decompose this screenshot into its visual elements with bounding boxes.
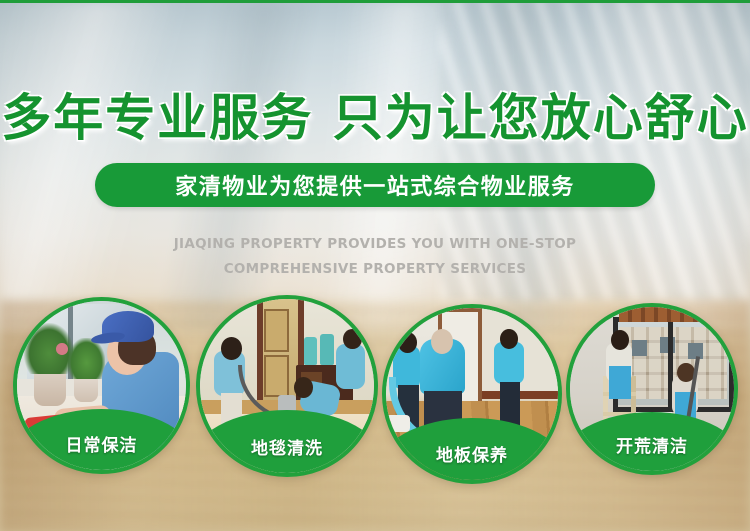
service-label-daily-cleaning: 日常保洁: [17, 431, 186, 456]
service-circle-floor-maintenance[interactable]: 地板保养: [382, 304, 562, 484]
service-label-carpet-washing: 地毯清洗: [200, 434, 374, 459]
promo-banner: 多年专业服务 只为让您放心舒心 家清物业为您提供一站式综合物业服务 JIAQIN…: [0, 0, 750, 531]
service-circle-post-construction-cleaning[interactable]: 开荒清洁: [566, 303, 738, 475]
service-label-floor-maintenance: 地板保养: [386, 441, 558, 466]
service-circle-carpet-washing[interactable]: 地毯清洗: [196, 295, 378, 477]
service-circle-row: 日常保洁 地毯清洗: [0, 0, 750, 531]
service-label-post-construction-cleaning: 开荒清洁: [570, 432, 734, 457]
service-circle-daily-cleaning[interactable]: 日常保洁: [13, 297, 190, 474]
